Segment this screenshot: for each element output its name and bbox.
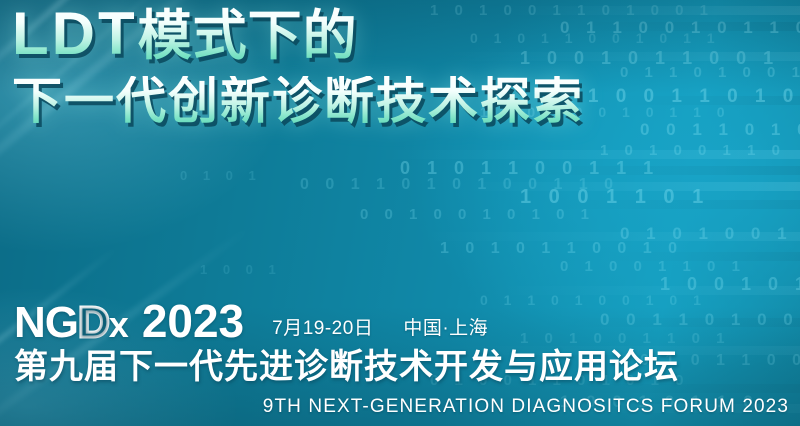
ngdx-suffix: x	[109, 304, 128, 345]
event-meta: 7月19-20日 中国·上海	[272, 313, 488, 340]
logo-and-date-row: NGDx 2023 7月19-20日 中国·上海	[14, 298, 789, 345]
ngdx-logo: NGDx	[14, 301, 128, 345]
headline-latin-ldt: LDT	[12, 0, 138, 67]
headline-line-2: 下一代创新诊断技术探索	[12, 76, 712, 126]
subtitle-english: 9TH NEXT-GENERATION DIAGNOSITCS FORUM 20…	[14, 396, 789, 418]
headline-block: LDT模式下的 下一代创新诊断技术探索	[12, 4, 712, 126]
headline-line-1-cn: 模式下的	[138, 6, 358, 66]
event-year: 2023	[142, 298, 244, 344]
subtitle-chinese: 第九届下一代先进诊断技术开发与应用论坛	[14, 349, 789, 386]
event-location: 中国·上海	[403, 313, 488, 340]
event-info-block: NGDx 2023 7月19-20日 中国·上海 第九届下一代先进诊断技术开发与…	[14, 298, 789, 418]
ngdx-prefix: NG	[14, 298, 78, 347]
conference-poster: 1 0 1 0 0 1 1 0 1 0 0 10 1 1 0 0 1 0 1 1…	[0, 0, 800, 426]
event-date: 7月19-20日	[272, 313, 373, 340]
headline-line-1: LDT模式下的	[12, 4, 712, 64]
ngdx-hollow-d: D	[78, 298, 109, 347]
